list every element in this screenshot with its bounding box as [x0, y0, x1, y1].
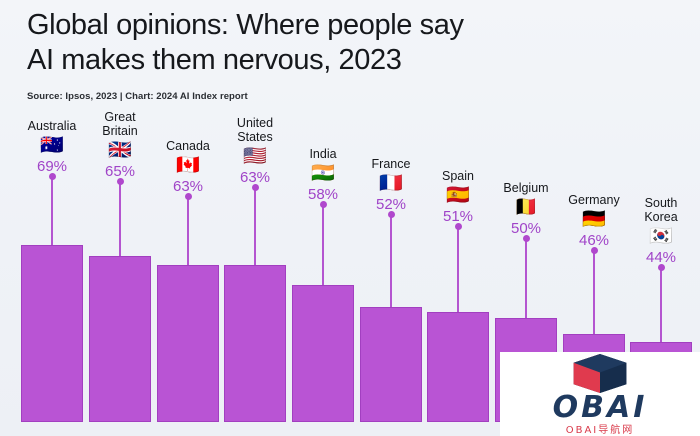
- lollipop-dot: [185, 193, 192, 200]
- page-title: Global opinions: Where people say AI mak…: [27, 8, 667, 79]
- lollipop-stem: [457, 227, 459, 312]
- cube-logo-icon: [569, 352, 631, 395]
- lollipop-stem: [51, 177, 53, 245]
- lollipop-dot: [658, 264, 665, 271]
- watermark-subtext: OBAI导航网: [566, 426, 635, 436]
- lollipop-stem: [119, 182, 121, 256]
- obai-watermark: OBAI OBAI导航网: [500, 352, 700, 436]
- lollipop-dot: [117, 178, 124, 185]
- lollipop-dot: [320, 201, 327, 208]
- bar[interactable]: [157, 265, 219, 422]
- lollipop-stem: [525, 239, 527, 318]
- chart-screenshot: Global opinions: Where people say AI mak…: [0, 0, 700, 436]
- lollipop-dot: [455, 223, 462, 230]
- lollipop-stem: [390, 215, 392, 307]
- bar[interactable]: [427, 312, 489, 422]
- bar[interactable]: [21, 245, 83, 422]
- lollipop-dot: [49, 173, 56, 180]
- lollipop-dot: [523, 235, 530, 242]
- lollipop-stem: [322, 205, 324, 285]
- lollipop-dot: [591, 247, 598, 254]
- bar[interactable]: [292, 285, 354, 422]
- lollipop-stem: [254, 188, 256, 265]
- lollipop-stem: [593, 251, 595, 334]
- watermark-wordmark: OBAI: [553, 393, 648, 423]
- lollipop-stem: [660, 268, 662, 342]
- chart-header: Global opinions: Where people say AI mak…: [27, 8, 667, 102]
- lollipop-stem: [187, 197, 189, 265]
- lollipop-dot: [388, 211, 395, 218]
- source-caption: Source: Ipsos, 2023 | Chart: 2024 AI Ind…: [27, 91, 667, 102]
- bar[interactable]: [360, 307, 422, 422]
- bar[interactable]: [224, 265, 286, 422]
- bar[interactable]: [89, 256, 151, 422]
- lollipop-dot: [252, 184, 259, 191]
